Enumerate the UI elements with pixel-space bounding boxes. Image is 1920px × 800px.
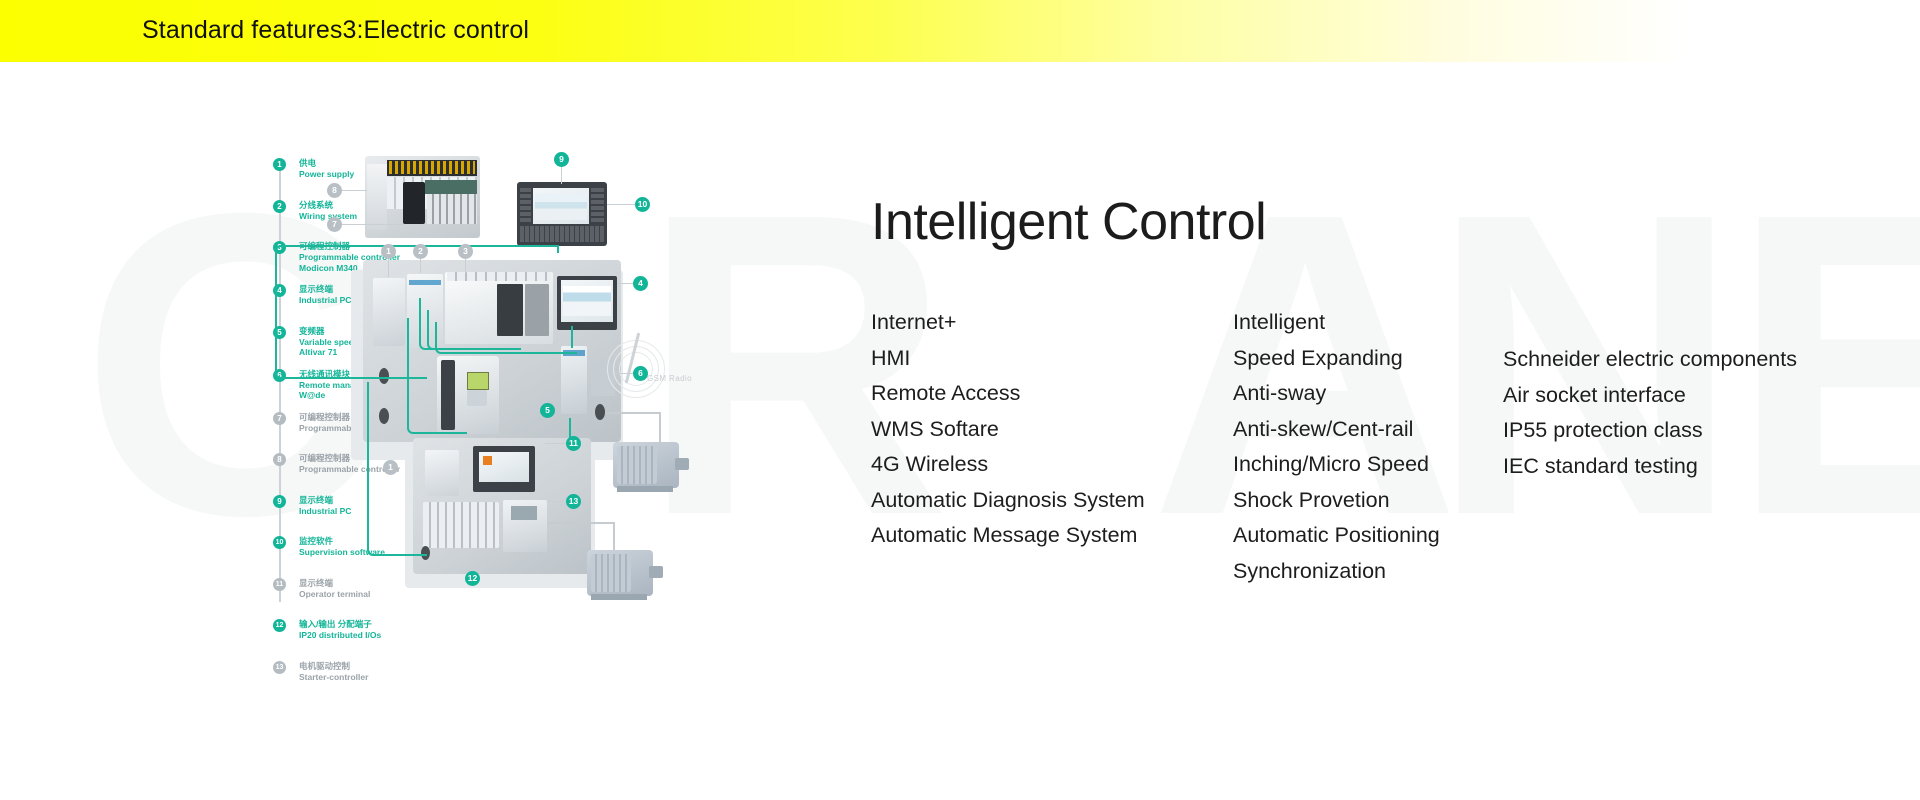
feature-item: Speed Expanding <box>1233 341 1440 377</box>
features-column-1: Internet+HMIRemote AccessWMS Softare4G W… <box>871 305 1145 554</box>
callout-4: 4 <box>633 276 648 291</box>
leader-callout-12 <box>472 554 473 571</box>
feature-item: Anti-skew/Cent-rail <box>1233 412 1440 448</box>
legend-label-en: Starter-controller <box>299 672 423 683</box>
callout-6: 6 <box>633 366 648 381</box>
legend-number: 12 <box>273 619 286 632</box>
callout-10: 10 <box>635 197 650 212</box>
feature-item: Automatic Diagnosis System <box>871 483 1145 519</box>
feature-item: Inching/Micro Speed <box>1233 447 1440 483</box>
plc-rack-card-strip <box>389 161 475 174</box>
lower-device-starter-display <box>511 506 537 520</box>
legend-item-12: 12输入/输出 分配端子IP20 distributed I/Os <box>273 619 423 641</box>
feature-item: WMS Softare <box>871 412 1145 448</box>
plc-rack-side-panel <box>367 164 387 230</box>
feature-item: Remote Access <box>871 376 1145 412</box>
callout-13: 13 <box>566 494 581 509</box>
legend-number: 10 <box>273 536 286 549</box>
lower-device-breaker <box>425 450 459 496</box>
feature-item: Automatic Positioning <box>1233 518 1440 554</box>
legend-number: 1 <box>273 158 286 171</box>
feature-item: HMI <box>871 341 1145 377</box>
feature-item: IP55 protection class <box>1503 413 1797 449</box>
feature-item: Air socket interface <box>1503 378 1797 414</box>
operator-terminal-keypad-right <box>591 188 604 224</box>
section-title: Intelligent Control <box>871 192 1266 252</box>
callout-8: 8 <box>327 183 342 198</box>
callout-1b: 1 <box>383 460 398 475</box>
callout-2: 2 <box>413 244 428 259</box>
operator-terminal-screen-graphic <box>535 194 587 220</box>
feature-item: Shock Provetion <box>1233 483 1440 519</box>
cable-terminal-drop <box>557 245 559 253</box>
motor-upper-fins <box>617 446 657 484</box>
cable-motor-2 <box>547 522 615 524</box>
plc-rack-modules-lower <box>427 194 477 224</box>
control-system-diagram: 1供电Power supply2分线系统Wiring system3可编程控制器… <box>255 150 865 750</box>
legend-label-cn: 输入/输出 分配端子 <box>299 619 423 630</box>
feature-item: IEC standard testing <box>1503 449 1797 485</box>
cable-gland-right <box>595 404 605 420</box>
feature-item: Anti-sway <box>1233 376 1440 412</box>
leader-callout-4 <box>617 283 633 284</box>
feature-item: Intelligent <box>1233 305 1440 341</box>
device-remote-management-module <box>561 346 587 414</box>
legend-item-11: 11显示终端Operator terminal <box>273 578 423 600</box>
device-vsd-display <box>467 372 489 390</box>
cable-rack-to-terminal <box>423 245 559 253</box>
device-industrial-pc-screen-graphic <box>563 286 611 316</box>
callout-9: 9 <box>554 152 569 167</box>
leader-callout-2 <box>420 259 421 273</box>
legend-number: 13 <box>273 661 286 674</box>
leader-callout-1 <box>388 259 389 277</box>
motor-lower-shaft <box>649 566 663 578</box>
feature-item: Automatic Message System <box>871 518 1145 554</box>
gsm-radio-label: GSM Radio <box>647 374 692 383</box>
legend-number: 7 <box>273 412 286 425</box>
operator-terminal-keypad-left <box>520 188 531 224</box>
legend-number: 2 <box>273 200 286 213</box>
legend-number: 8 <box>273 453 286 466</box>
legend-label-cn: 电机驱动控制 <box>299 661 423 672</box>
leader-callout-9 <box>561 166 562 184</box>
cable-rack-to-cabinet-1 <box>275 245 427 379</box>
feature-item: 4G Wireless <box>871 447 1145 483</box>
motor-lower-fins <box>591 554 631 592</box>
callout-5: 5 <box>540 403 555 418</box>
leader-callout-10 <box>607 204 635 205</box>
motor-lower-base <box>591 594 647 600</box>
callout-7: 7 <box>327 217 342 232</box>
motor-upper-shaft <box>675 458 689 470</box>
leader-callout-13 <box>549 501 566 502</box>
leader-callout-11 <box>545 443 566 444</box>
features-column-2: IntelligentSpeed ExpandingAnti-swayAnti-… <box>1233 305 1440 589</box>
leader-callout-8 <box>339 190 367 191</box>
cable-pc-drop <box>571 326 579 348</box>
feature-item: Schneider electric components <box>1503 342 1797 378</box>
plc-rack-module-green <box>425 180 477 194</box>
legend-label-en: IP20 distributed I/Os <box>299 630 423 641</box>
plc-rack-module-dark <box>403 182 425 224</box>
legend-item-13: 13电机驱动控制Starter-controller <box>273 661 423 683</box>
lower-device-io-modules <box>423 502 499 548</box>
legend-number: 9 <box>273 495 286 508</box>
callout-12: 12 <box>465 571 480 586</box>
leader-callout-3 <box>465 259 466 273</box>
feature-item: Synchronization <box>1233 554 1440 590</box>
leader-callout-7 <box>339 224 405 225</box>
callout-1: 1 <box>381 244 396 259</box>
cable-motor-1 <box>605 412 661 414</box>
page-title: Standard features3:Electric control <box>142 16 529 45</box>
operator-terminal-keyboard <box>520 226 604 242</box>
slide-root: Standard features3:Electric control C R … <box>0 0 1920 800</box>
callout-3: 3 <box>458 244 473 259</box>
leader-callout-6 <box>615 373 633 374</box>
legend-number: 11 <box>273 578 286 591</box>
callout-11: 11 <box>566 436 581 451</box>
legend-label-en: Operator terminal <box>299 589 423 600</box>
motor-upper-base <box>617 486 673 492</box>
device-vsd-keypad <box>467 390 487 406</box>
device-plc-top-rail <box>447 272 551 281</box>
features-column-3: Schneider electric componentsAir socket … <box>1503 342 1797 484</box>
feature-item: Internet+ <box>871 305 1145 341</box>
lower-device-orange-indicator <box>483 456 492 465</box>
header-banner: Standard features3:Electric control <box>0 0 1920 62</box>
